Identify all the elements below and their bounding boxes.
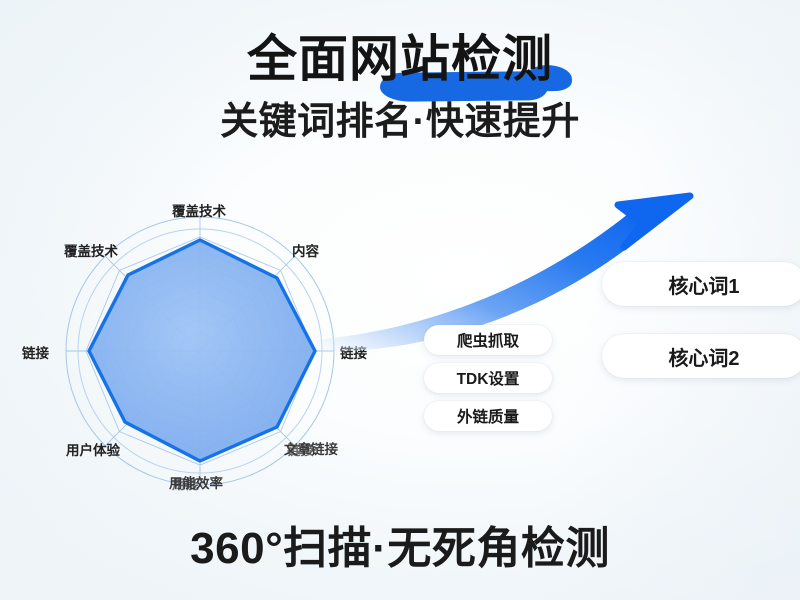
radar-label-bottom-left: 用户体验 [66,439,120,459]
radar-label-right: 链接 [340,342,367,362]
arrow-head [618,196,690,247]
keyword-pill-2-label: 核心词2 [668,342,739,371]
radar-label-bottom: 用能用能效率 [169,472,223,492]
keyword-pill-1-label: 核心词1 [668,270,739,299]
keyword-pill-2[interactable]: 核心词2 [602,334,800,378]
feature-pill-tdk-label: TDK设置 [457,367,520,389]
footer-tagline: 360°扫描·无死角检测 [0,512,800,576]
page-title-text: 全面网站检测 [247,31,553,87]
feature-pill-backlink-label: 外链质量 [457,405,519,427]
radar-label-bottom-right: 链接文章链接 [284,438,338,458]
page-title: 全面网站检测 [247,34,553,84]
radar-label-top-right: 内容 [292,240,319,260]
feature-pill-tdk[interactable]: TDK设置 [424,363,552,393]
page-subtitle: 关键词排名·快速提升 [0,103,800,141]
feature-pill-backlink[interactable]: 外链质量 [424,401,552,431]
headline-block: 全面网站检测 关键词排名·快速提升 [0,34,800,141]
keyword-pill-1[interactable]: 核心词1 [602,262,800,306]
feature-pill-crawl[interactable]: 爬虫抓取 [424,325,552,355]
radar-label-top-left: 覆盖技术 [64,240,118,260]
poster-canvas: 全面网站检测 关键词排名·快速提升 [0,0,800,600]
feature-pill-crawl-label: 爬虫抓取 [457,329,519,351]
radar-chart: 覆盖技术 内容 链接 链接文章链接 用能用能效率 用户体验 链接 覆盖技术 [28,196,428,506]
radar-label-left: 链接 [22,342,49,362]
radar-label-top: 覆盖技术 [172,200,226,220]
